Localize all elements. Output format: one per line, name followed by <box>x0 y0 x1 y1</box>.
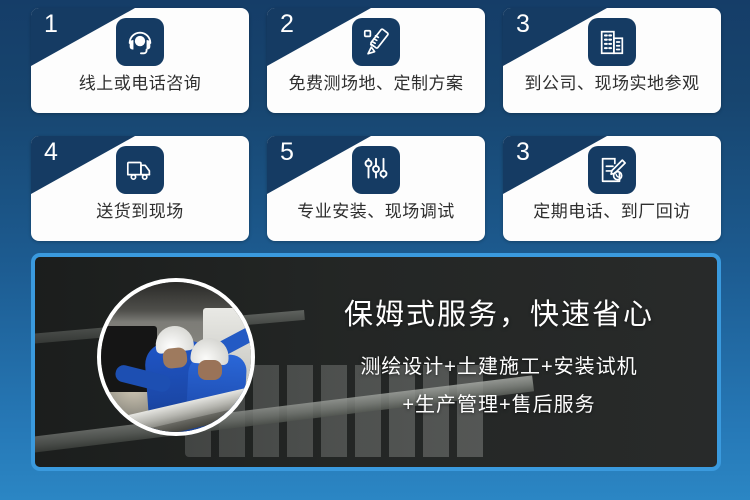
ruler-pencil-icon <box>352 18 400 66</box>
building-icon <box>588 18 636 66</box>
step-card[interactable]: 2 免费测场地、定制方案 <box>267 8 485 113</box>
banner-line-1: 测绘设计+土建施工+安装试机 <box>360 348 637 386</box>
step-card[interactable]: 3 到公司、现场实地参观 <box>503 8 721 113</box>
banner-text-block: 保姆式服务，快速省心 测绘设计+土建施工+安装试机 +生产管理+售后服务 <box>273 257 721 467</box>
step-number: 1 <box>44 12 58 37</box>
document-edit-phone-icon <box>588 146 636 194</box>
workers-photo-avatar <box>97 278 255 436</box>
service-banner: 保姆式服务，快速省心 测绘设计+土建施工+安装试机 +生产管理+售后服务 <box>31 253 721 471</box>
step-number: 5 <box>280 140 294 165</box>
service-steps-grid: 1 线上或电话咨询 2 免费测场地、定制方案 3 <box>31 8 721 241</box>
sliders-icon <box>352 146 400 194</box>
step-number: 2 <box>280 12 294 37</box>
step-label: 免费测场地、定制方案 <box>289 75 464 94</box>
step-label: 到公司、现场实地参观 <box>525 75 700 94</box>
delivery-truck-icon <box>116 146 164 194</box>
banner-title: 保姆式服务，快速省心 <box>344 301 654 330</box>
step-number: 3 <box>516 140 530 165</box>
step-card[interactable]: 5 专业安装、现场调试 <box>267 136 485 241</box>
step-label: 专业安装、现场调试 <box>297 203 455 222</box>
headset-icon <box>116 18 164 66</box>
step-card[interactable]: 1 线上或电话咨询 <box>31 8 249 113</box>
step-card[interactable]: 3 定期电话、到厂回访 <box>503 136 721 241</box>
step-number: 4 <box>44 140 58 165</box>
step-number: 3 <box>516 12 530 37</box>
step-card[interactable]: 4 送货到现场 <box>31 136 249 241</box>
step-label: 定期电话、到厂回访 <box>533 203 691 222</box>
step-label: 线上或电话咨询 <box>79 75 202 94</box>
step-label: 送货到现场 <box>96 203 184 222</box>
banner-line-2: +生产管理+售后服务 <box>402 386 595 424</box>
